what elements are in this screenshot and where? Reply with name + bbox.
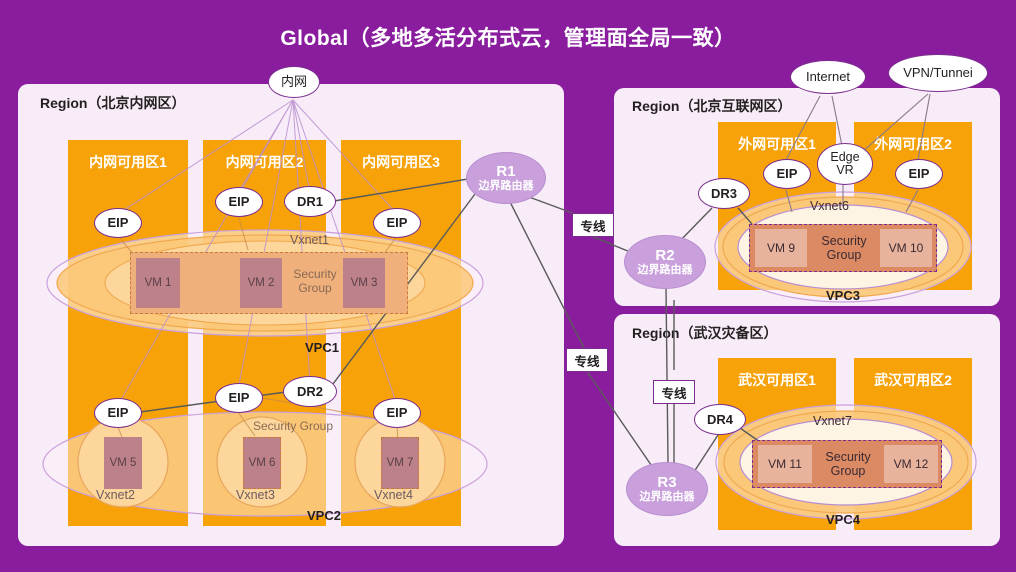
vm-box-vm7: VM 7	[381, 437, 419, 489]
region-label-beijing-intranet: Region（北京内网区）	[40, 93, 185, 113]
vm-box-vm12: VM 12	[884, 445, 938, 483]
node-internet[interactable]: Internet	[790, 60, 866, 94]
security-group-label-vpc3: Security Group	[812, 234, 876, 263]
vm-box-vm3: VM 3	[343, 258, 385, 308]
eip-node-intranet-az1-top[interactable]: EIP	[94, 208, 142, 238]
vpc4-label: VPC4	[826, 512, 860, 527]
leased-line-tag-r1-r3: 专线	[566, 348, 608, 372]
edge-vr-node[interactable]: Edge VR	[817, 143, 873, 185]
eip-node-intranet-az3-bottom[interactable]: EIP	[373, 398, 421, 428]
vxnet2-label: Vxnet2	[96, 488, 135, 502]
sg-label-vpc4-line2: Group	[831, 464, 866, 478]
az-label-intranet-1: 内网可用区1	[68, 152, 188, 172]
node-intranet[interactable]: 内网	[268, 66, 320, 98]
vpc3-label: VPC3	[826, 288, 860, 303]
edge-vr-line2: VR	[836, 164, 853, 177]
az-label-internet-1: 外网可用区1	[718, 134, 836, 154]
border-router-r1[interactable]: R1 边界路由器	[466, 152, 546, 204]
leased-line-tag-wuhan: 专线	[653, 380, 695, 404]
sg-label-vpc3-line2: Group	[827, 248, 862, 262]
dr3-node[interactable]: DR3	[698, 178, 750, 209]
border-router-r3-sub: 边界路由器	[640, 491, 695, 503]
eip-node-intranet-az2-top[interactable]: EIP	[215, 187, 263, 217]
vpc1-label: VPC1	[305, 340, 339, 355]
az-label-intranet-2: 内网可用区2	[203, 152, 326, 172]
dr4-node[interactable]: DR4	[694, 404, 746, 435]
vm-box-vm1: VM 1	[136, 258, 180, 308]
border-router-r2[interactable]: R2 边界路由器	[624, 235, 706, 289]
vpc2-label: VPC2	[307, 508, 341, 523]
border-router-r1-sub: 边界路由器	[479, 180, 534, 192]
border-router-r3-name: R3	[657, 475, 676, 492]
region-label-beijing-internet: Region（北京互联网区）	[632, 96, 791, 116]
page-title: Global（多地多活分布式云，管理面全局一致）	[0, 22, 1016, 52]
diagram-canvas: Global（多地多活分布式云，管理面全局一致） Region（北京内网区） R…	[0, 0, 1016, 572]
vxnet4-label: Vxnet4	[374, 488, 413, 502]
eip-node-internet-az1[interactable]: EIP	[763, 159, 811, 189]
eip-node-intranet-az1-bottom[interactable]: EIP	[94, 398, 142, 428]
eip-node-internet-az2[interactable]: EIP	[895, 159, 943, 189]
sg-label-line1: Security	[293, 267, 336, 281]
sg-label-vpc4-line1: Security	[825, 450, 870, 464]
vxnet7-label: Vxnet7	[813, 414, 852, 428]
security-group-label-vpc2: Security Group	[238, 420, 348, 434]
vm-box-vm10: VM 10	[880, 229, 932, 267]
security-group-label-vpc4: Security Group	[816, 450, 880, 479]
dr2-node[interactable]: DR2	[283, 376, 337, 407]
az-label-wuhan-1: 武汉可用区1	[718, 370, 836, 390]
eip-node-intranet-az2-bottom[interactable]: EIP	[215, 383, 263, 413]
region-label-wuhan-dr: Region（武汉灾备区）	[632, 323, 777, 343]
border-router-r3[interactable]: R3 边界路由器	[626, 462, 708, 516]
eip-node-intranet-az3-top[interactable]: EIP	[373, 208, 421, 238]
dr1-node[interactable]: DR1	[284, 186, 336, 217]
az-label-internet-2: 外网可用区2	[854, 134, 972, 154]
sg-label-line2: Group	[298, 281, 331, 295]
vm-box-vm9: VM 9	[755, 229, 807, 267]
az-label-intranet-3: 内网可用区3	[341, 152, 461, 172]
vxnet1-label: Vxnet1	[290, 233, 329, 247]
az-label-wuhan-2: 武汉可用区2	[854, 370, 972, 390]
security-group-label-vpc1: Security Group	[286, 268, 344, 296]
vxnet3-label: Vxnet3	[236, 488, 275, 502]
vm-box-vm5: VM 5	[104, 437, 142, 489]
border-router-r1-name: R1	[496, 164, 515, 181]
vxnet6-label: Vxnet6	[810, 199, 849, 213]
vm-box-vm11: VM 11	[758, 445, 812, 483]
border-router-r2-name: R2	[655, 248, 674, 265]
vm-box-vm2: VM 2	[240, 258, 282, 308]
vm-box-vm6: VM 6	[243, 437, 281, 489]
leased-line-tag-r1-r2: 专线	[572, 213, 614, 237]
node-vpn-tunnel[interactable]: VPN/Tunnei	[888, 54, 988, 92]
border-router-r2-sub: 边界路由器	[638, 264, 693, 276]
sg-label-vpc3-line1: Security	[821, 234, 866, 248]
